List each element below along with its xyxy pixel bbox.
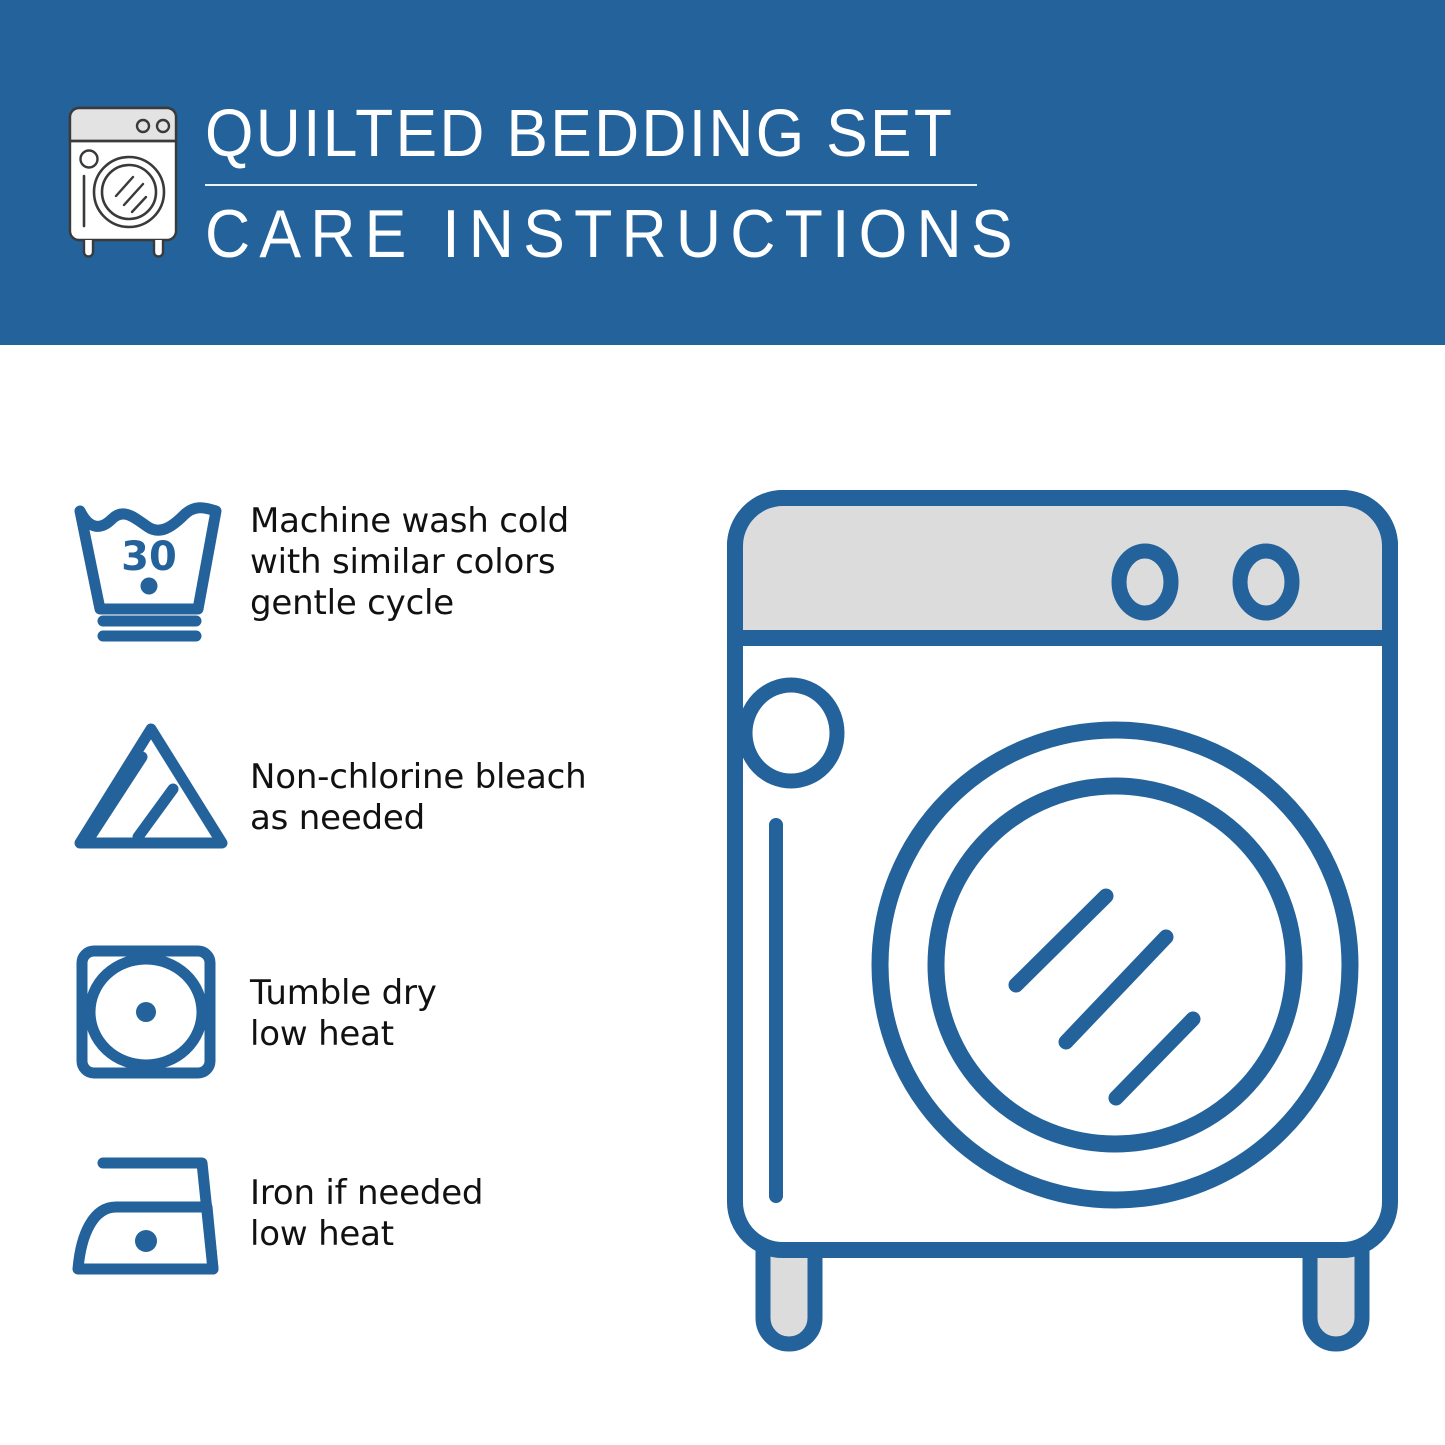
care-row-iron: Iron if needed low heat	[70, 1145, 690, 1295]
page-subtitle: CARE INSTRUCTIONS	[205, 196, 941, 272]
page-title: QUILTED BEDDING SET	[205, 96, 949, 172]
care-row-tumble-dry: Tumble dry low heat	[70, 937, 690, 1087]
care-text-machine-wash: Machine wash cold with similar colors ge…	[242, 493, 569, 624]
wash-tub-30-gentle-icon: 30	[70, 493, 242, 643]
care-line-2: low heat	[250, 1014, 437, 1055]
wash-temperature-value: 30	[121, 534, 177, 580]
care-line-2: with similar colors	[250, 542, 569, 583]
care-line-1: Non-chlorine bleach	[250, 757, 586, 798]
care-text-bleach: Non-chlorine bleach as needed	[242, 715, 586, 839]
care-line-1: Tumble dry	[250, 973, 437, 1014]
care-text-tumble-dry: Tumble dry low heat	[242, 937, 437, 1055]
care-instruction-list: 30 Machine wash cold with similar colors…	[0, 345, 700, 1445]
title-divider	[205, 184, 977, 186]
care-line-3: gentle cycle	[250, 583, 569, 624]
care-row-bleach: Non-chlorine bleach as needed	[70, 715, 690, 865]
care-line-2: as needed	[250, 798, 586, 839]
care-row-machine-wash: 30 Machine wash cold with similar colors…	[70, 493, 690, 643]
header-band: QUILTED BEDDING SET CARE INSTRUCTIONS	[0, 0, 1445, 345]
iron-low-heat-icon	[70, 1145, 242, 1295]
header-text-block: QUILTED BEDDING SET CARE INSTRUCTIONS	[205, 96, 1005, 272]
care-text-iron: Iron if needed low heat	[242, 1145, 483, 1255]
tumble-dry-low-heat-icon	[70, 937, 242, 1087]
front-load-washing-machine-illustration	[718, 470, 1408, 1370]
care-line-2: low heat	[250, 1214, 483, 1255]
care-instructions-page: QUILTED BEDDING SET CARE INSTRUCTIONS 30	[0, 0, 1445, 1445]
washing-machine-icon	[62, 100, 187, 260]
care-line-1: Iron if needed	[250, 1173, 483, 1214]
non-chlorine-bleach-triangle-icon	[70, 715, 242, 865]
care-line-1: Machine wash cold	[250, 501, 569, 542]
